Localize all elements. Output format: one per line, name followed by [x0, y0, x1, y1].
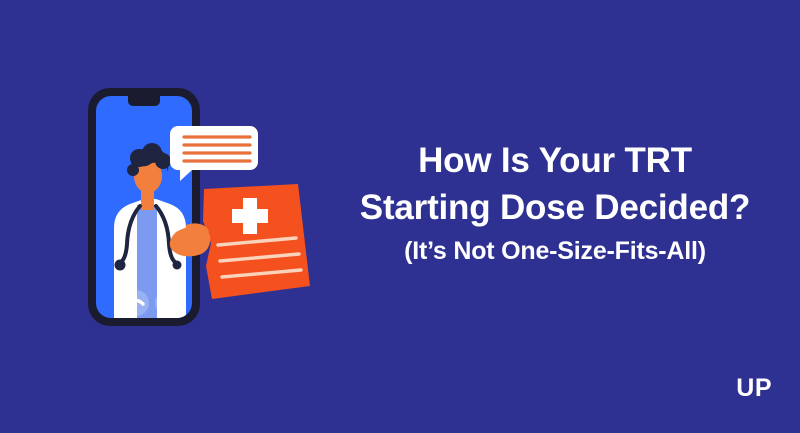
promo-banner: How Is Your TRT Starting Dose Decided? (… [0, 0, 800, 433]
end-call-button [123, 290, 149, 316]
doctor-hair-curl-side [127, 164, 139, 176]
stethoscope-chestpiece [115, 260, 126, 271]
headline-line-2: Starting Dose Decided? [330, 185, 780, 232]
stethoscope-earpiece [173, 261, 182, 270]
headline-line-1: How Is Your TRT [330, 138, 780, 185]
phone-notch [128, 96, 160, 106]
telehealth-illustration [0, 0, 340, 433]
speech-bubble [170, 126, 258, 181]
brand-logo[interactable]: UP [736, 376, 772, 401]
phone-mockup [88, 88, 200, 326]
prescription-document [203, 184, 310, 299]
illustration-svg [0, 0, 340, 433]
doctor-hair-curl-right [155, 153, 171, 169]
doctor-neck [141, 190, 154, 210]
page-title: How Is Your TRT Starting Dose Decided? [330, 138, 780, 231]
headline-block: How Is Your TRT Starting Dose Decided? (… [330, 138, 780, 266]
subheadline: (It’s Not One-Size-Fits-All) [330, 237, 780, 266]
